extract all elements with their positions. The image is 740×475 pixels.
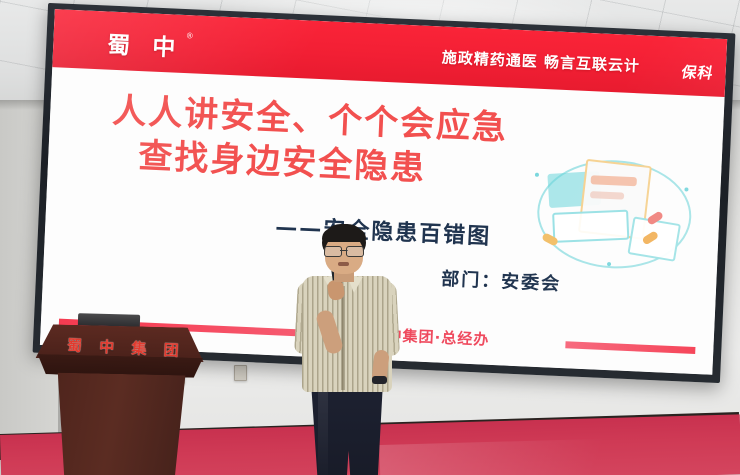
medicine-box-icon bbox=[552, 210, 629, 243]
footer-rule-right bbox=[565, 341, 695, 354]
company-logo: 蜀 中 bbox=[107, 26, 183, 63]
company-tagline: 施政精药通医 畅言互联云计 bbox=[441, 46, 640, 76]
speaker-presenter bbox=[288, 224, 408, 475]
wall-outlet bbox=[234, 365, 247, 381]
speaker-hair-front bbox=[322, 228, 366, 242]
podium: 蜀 中 集 团 bbox=[30, 322, 210, 475]
speaker-mouth bbox=[338, 262, 349, 266]
wristwatch-icon bbox=[372, 376, 387, 384]
sparkle-dot-icon bbox=[684, 187, 688, 191]
secondary-logo: 保科 bbox=[680, 61, 716, 83]
shirt-button-placket bbox=[341, 286, 345, 390]
eyeglasses-icon bbox=[324, 246, 364, 255]
registered-trademark-icon: ® bbox=[187, 31, 193, 40]
slide-title-block: 人人讲安全、个个会应急 查找身边安全隐患 bbox=[109, 90, 582, 198]
trouser-highlight bbox=[318, 390, 328, 475]
slide-department-label: 部门：安委会 bbox=[441, 265, 562, 296]
book-line-icon bbox=[590, 191, 624, 200]
lens-right bbox=[346, 246, 364, 257]
lens-left bbox=[324, 246, 342, 257]
podium-column bbox=[47, 372, 194, 475]
podium-laptop bbox=[78, 313, 140, 327]
presentation-room-scene: 蜀 中 ® 施政精药通医 畅言互联云计 保科 人人讲安全、个个会应急 查找身边安… bbox=[0, 0, 740, 475]
sparkle-dot-icon bbox=[535, 173, 539, 177]
medicine-illustration bbox=[529, 149, 704, 276]
